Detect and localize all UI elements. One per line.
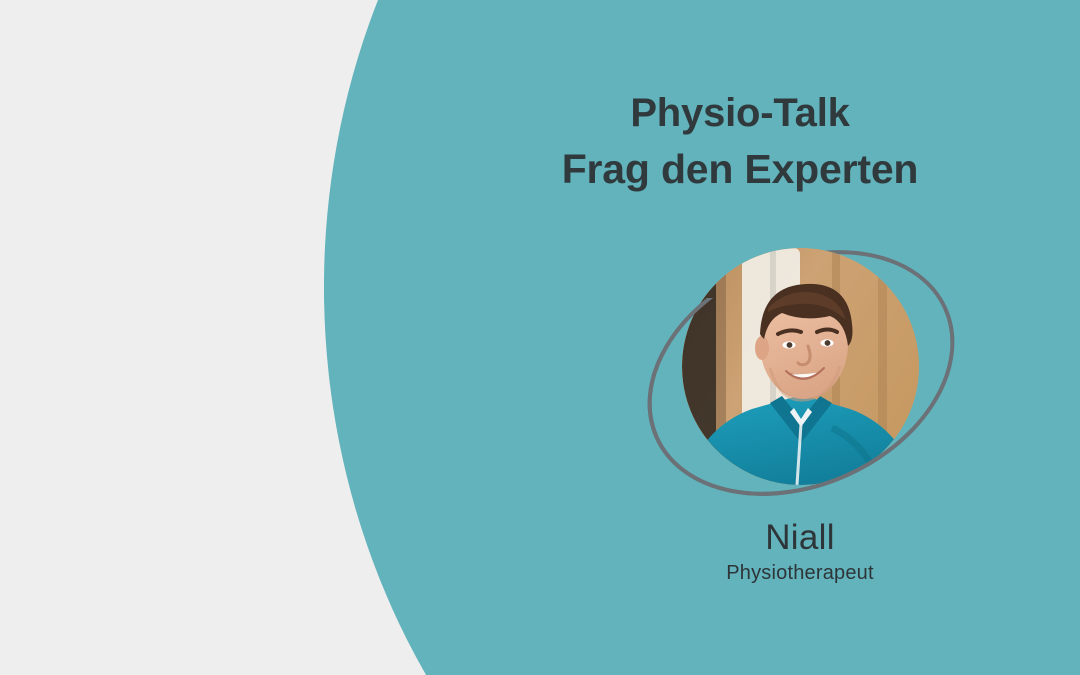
- slide-canvas: Physio-Talk Frag den Experten: [0, 0, 1080, 675]
- page-title: Physio-Talk Frag den Experten: [440, 86, 1040, 198]
- title-line-1: Physio-Talk: [440, 86, 1040, 141]
- speaker-role: Physiotherapeut: [600, 561, 1000, 585]
- speaker-name: Niall: [600, 518, 1000, 557]
- title-line-2: Frag den Experten: [440, 141, 1040, 198]
- decorative-ring-front-icon: [636, 228, 966, 518]
- speaker-info: Niall Physiotherapeut: [600, 518, 1000, 585]
- portrait-block: [636, 228, 966, 518]
